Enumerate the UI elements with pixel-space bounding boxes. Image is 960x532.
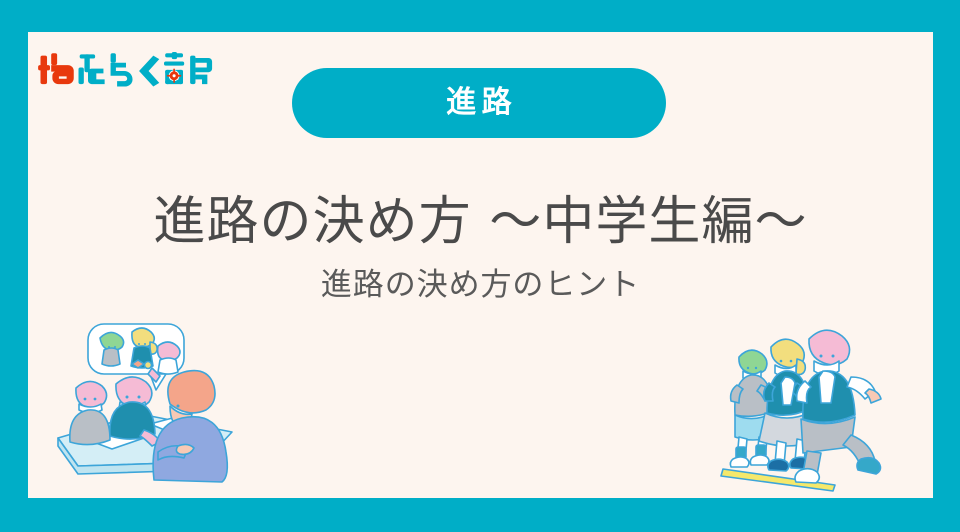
conference-parent-gray [70,381,110,444]
logo-chars-tarakubu [79,52,213,86]
illustration-students-running [715,319,905,494]
running-illustration-svg [715,319,905,494]
illustration-parent-teacher-conference [54,320,254,490]
thumbnail-canvas: 進路 進路の決め方 〜中学生編〜 進路の決め方のヒント [0,0,960,532]
conference-parent-teal [110,377,160,446]
site-logo[interactable] [36,45,216,97]
logo-wordmark [36,52,216,90]
category-badge[interactable]: 進路 [292,68,666,138]
runner-pink [795,330,881,483]
category-badge-label: 進路 [441,88,517,118]
logo-char-ha [38,53,74,84]
title-block: 進路の決め方 〜中学生編〜 進路の決め方のヒント [28,192,933,305]
content-panel: 進路 進路の決め方 〜中学生編〜 進路の決め方のヒント [28,32,933,498]
bubble-figure-pink [158,342,180,374]
page-title: 進路の決め方 〜中学生編〜 [28,192,933,253]
conference-illustration-svg [54,320,254,490]
page-subtitle: 進路の決め方のヒント [28,267,933,304]
